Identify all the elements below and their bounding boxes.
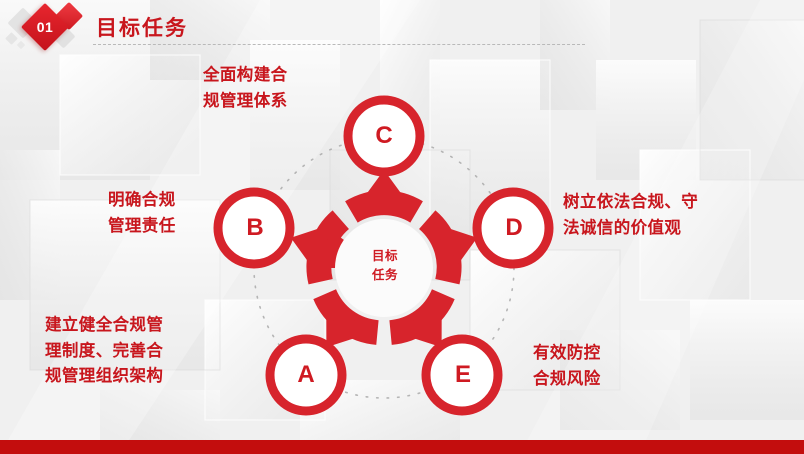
node-label-c: 全面构建合 规管理体系 <box>203 63 288 114</box>
node-label-d: 树立依法合规、守 法诚信的价值观 <box>563 190 698 241</box>
node-letter-c: C <box>361 122 407 150</box>
slide: 01 目标任务 <box>0 0 804 454</box>
node-label-e: 有效防控 合规风险 <box>533 341 601 392</box>
node-letter-e: E <box>440 361 486 389</box>
node-letter-a: A <box>283 361 329 389</box>
node-letter-b: B <box>232 214 278 242</box>
footer-bar <box>0 440 804 454</box>
node-letter-d: D <box>491 214 537 242</box>
node-label-a: 建立健全合规管 理制度、完善合 规管理组织架构 <box>45 313 163 390</box>
hub-label: 目标 任务 <box>355 247 415 285</box>
node-label-b: 明确合规 管理责任 <box>108 188 176 239</box>
